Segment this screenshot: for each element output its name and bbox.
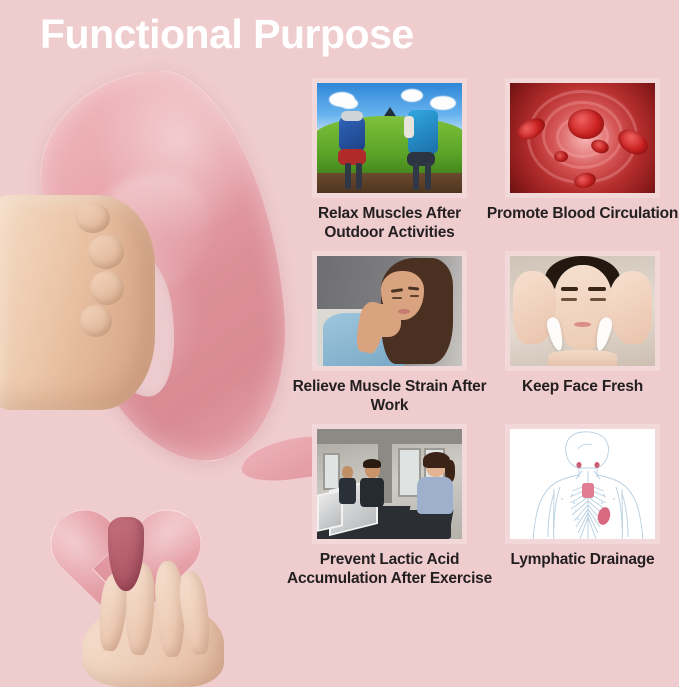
jacket [338,149,366,165]
thumbnail-facial-gua-sha-massage [505,251,660,371]
knuckle [76,203,110,233]
leg [425,162,431,190]
face [342,466,353,479]
benefits-grid: Relax Muscles After Outdoor Activities P… [293,78,679,588]
tank-top [360,478,384,508]
eye-closed [590,298,606,301]
thumbnail-hikers-on-green-hill [312,78,467,198]
product-photo-fingers-holding-heart-gua-sha [60,455,310,679]
man-exercising [358,462,387,519]
page-title: Functional Purpose [40,12,414,57]
knuckle [88,235,124,269]
hiker-right [404,106,442,190]
leggings [419,514,451,539]
eyebrow [561,287,578,291]
thumbnail-lymphatic-system-diagram [505,424,660,544]
benefit-caption: Keep Face Fresh [480,378,679,397]
mouth [398,309,410,314]
benefit-caption: Promote Blood Circulation [480,205,679,224]
benefit-caption: Prevent Lactic Acid Accumulation After E… [282,551,497,589]
backpack [339,117,365,151]
shirt [339,478,356,504]
benefit-cell-relax-muscles: Relax Muscles After Outdoor Activities [293,78,486,243]
eye-closed [561,298,577,301]
red-blood-cell [554,151,568,162]
sports-top [417,477,452,514]
benefit-caption: Relax Muscles After Outdoor Activities [287,205,492,243]
benefit-caption: Lymphatic Drainage [480,551,679,570]
eyebrow [408,286,419,290]
backpack-top [341,111,363,121]
knuckle [90,271,124,305]
benefit-cell-promote-blood-circulation: Promote Blood Circulation [486,78,679,243]
benefits-row: Relieve Muscle Strain After Work [293,251,679,416]
hiker-left [337,111,371,189]
benefit-cell-lymphatic-drainage: Lymphatic Drainage [486,424,679,589]
thumbnail-gym-treadmill-workout [312,424,467,544]
thumbnail-woman-with-neck-pain [312,251,467,371]
benefit-cell-relieve-muscle-strain: Relieve Muscle Strain After Work [293,251,486,416]
woman-exercising [413,455,459,539]
leg [413,162,419,190]
hand-grip [0,195,155,410]
lymphatic-diagram-svg [510,429,655,539]
benefits-row: Prevent Lactic Acid Accumulation After E… [293,424,679,589]
hair [363,459,380,468]
benefits-row: Relax Muscles After Outdoor Activities P… [293,78,679,243]
benefit-cell-keep-face-fresh: Keep Face Fresh [486,251,679,416]
head [404,116,414,138]
eye-closed [392,297,402,299]
eyebrow [588,287,605,291]
leg [356,163,362,189]
cloud-icon [401,89,423,102]
background-person [337,466,357,510]
benefit-caption: Relieve Muscle Strain After Work [287,378,492,416]
leg [345,163,351,189]
product-photo-hand-holding-large-gua-sha [0,60,300,460]
thumbnail-red-blood-cells-in-vessel [505,78,660,198]
benefit-cell-prevent-lactic-acid: Prevent Lactic Acid Accumulation After E… [293,424,486,589]
shoulders [548,350,618,365]
therapist-hand-right [609,271,653,344]
knuckle [80,305,112,337]
